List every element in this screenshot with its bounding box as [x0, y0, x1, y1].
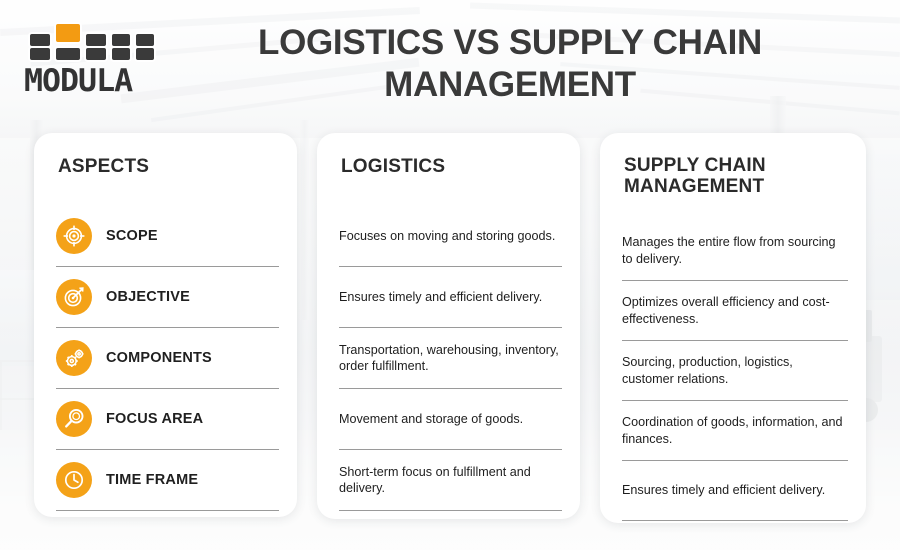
aspect-row-scope[interactable]: SCOPE	[56, 206, 279, 267]
logo-tile-accent	[54, 22, 82, 44]
logo-tile	[110, 46, 132, 62]
logistics-row: Transportation, warehousing, inventory, …	[339, 328, 562, 389]
scm-row-text: Manages the entire flow from sourcing to…	[622, 234, 848, 267]
aspect-label: COMPONENTS	[106, 350, 212, 366]
aspect-label: OBJECTIVE	[106, 289, 190, 305]
logistics-row-text: Ensures timely and efficient delivery.	[339, 289, 542, 306]
logistics-row-text: Short-term focus on fulfillment and deli…	[339, 464, 562, 497]
scm-row-list: Manages the entire flow from sourcing to…	[622, 221, 848, 521]
scm-row: Ensures timely and efficient delivery.	[622, 461, 848, 521]
aspects-heading: ASPECTS	[58, 155, 279, 178]
aspect-label: FOCUS AREA	[106, 411, 203, 427]
magnifier-icon	[56, 401, 92, 437]
logistics-row: Movement and storage of goods.	[339, 389, 562, 450]
infographic-canvas: MODULA LOGISTICS VS SUPPLY CHAIN MANAGEM…	[0, 0, 900, 550]
scm-row-text: Ensures timely and efficient delivery.	[622, 482, 825, 499]
logistics-row-text: Movement and storage of goods.	[339, 411, 523, 428]
scm-row-text: Coordination of goods, information, and …	[622, 414, 848, 447]
scm-row-text: Optimizes overall efficiency and cost-ef…	[622, 294, 848, 327]
scm-row: Coordination of goods, information, and …	[622, 401, 848, 461]
aspects-card: ASPECTS SCOPE	[34, 133, 297, 517]
page-title-line-1: LOGISTICS VS SUPPLY CHAIN	[180, 22, 840, 64]
logo-wordmark: MODULA	[24, 62, 153, 100]
target-crosshair-icon	[56, 218, 92, 254]
logistics-row: Focuses on moving and storing goods.	[339, 206, 562, 267]
logo-tile	[84, 46, 108, 62]
logo-tile	[134, 46, 156, 62]
scm-row: Sourcing, production, logistics, custome…	[622, 341, 848, 401]
logistics-row-list: Focuses on moving and storing goods. Ens…	[339, 206, 562, 511]
logistics-heading: LOGISTICS	[341, 155, 562, 178]
scm-heading-line-2: MANAGEMENT	[624, 176, 848, 197]
header: MODULA LOGISTICS VS SUPPLY CHAIN MANAGEM…	[0, 0, 900, 128]
page-title: LOGISTICS VS SUPPLY CHAIN MANAGEMENT	[180, 22, 840, 106]
clock-icon	[56, 462, 92, 498]
logo-tile	[28, 46, 52, 62]
aspect-row-components[interactable]: COMPONENTS	[56, 328, 279, 389]
logistics-row: Short-term focus on fulfillment and deli…	[339, 450, 562, 511]
aspect-row-time-frame[interactable]: TIME FRAME	[56, 450, 279, 511]
supply-chain-management-card: SUPPLY CHAIN MANAGEMENT Manages the enti…	[600, 133, 866, 523]
aspect-row-objective[interactable]: OBJECTIVE	[56, 267, 279, 328]
logo-tile	[54, 46, 82, 62]
dartboard-arrow-icon	[56, 279, 92, 315]
aspects-row-list: SCOPE OBJECTIVE	[56, 206, 279, 511]
page-title-line-2: MANAGEMENT	[180, 64, 840, 106]
aspect-row-focus-area[interactable]: FOCUS AREA	[56, 389, 279, 450]
scm-heading-line-1: SUPPLY CHAIN	[624, 155, 848, 176]
logistics-row-text: Transportation, warehousing, inventory, …	[339, 342, 562, 375]
scm-row-text: Sourcing, production, logistics, custome…	[622, 354, 848, 387]
scm-row: Manages the entire flow from sourcing to…	[622, 221, 848, 281]
logistics-card: LOGISTICS Focuses on moving and storing …	[317, 133, 580, 519]
gears-icon	[56, 340, 92, 376]
modula-logo: MODULA	[24, 22, 154, 104]
scm-row: Optimizes overall efficiency and cost-ef…	[622, 281, 848, 341]
logistics-row: Ensures timely and efficient delivery.	[339, 267, 562, 328]
logistics-row-text: Focuses on moving and storing goods.	[339, 228, 555, 245]
aspect-label: TIME FRAME	[106, 472, 198, 488]
aspect-label: SCOPE	[106, 228, 158, 244]
logo-tile-grid	[24, 22, 150, 62]
scm-heading: SUPPLY CHAIN MANAGEMENT	[624, 155, 848, 197]
